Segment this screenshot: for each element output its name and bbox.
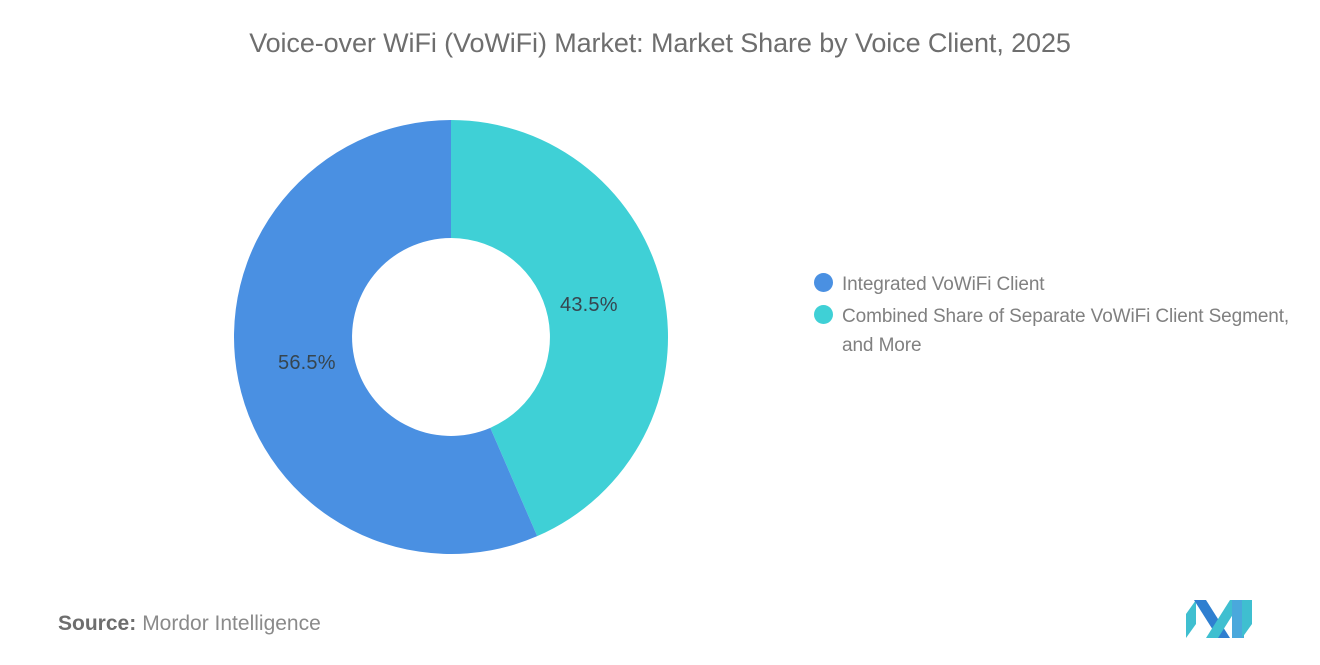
chart-title: Voice-over WiFi (VoWiFi) Market: Market …: [0, 28, 1320, 59]
donut-slice-group: [234, 120, 668, 554]
legend-label-combined-share: Combined Share of Separate VoWiFi Client…: [842, 302, 1294, 360]
legend-label-integrated-vowifi-client: Integrated VoWiFi Client: [842, 270, 1044, 299]
slice-data-label-combined-share: 43.5%: [560, 294, 618, 317]
legend-swatch-icon-combined-share: [814, 305, 833, 324]
chart-figure: Voice-over WiFi (VoWiFi) Market: Market …: [0, 0, 1320, 665]
chart-legend: Integrated VoWiFi Client Combined Share …: [814, 270, 1294, 363]
legend-swatch-icon-integrated-vowifi-client: [814, 273, 833, 292]
legend-item-combined-share[interactable]: Combined Share of Separate VoWiFi Client…: [814, 302, 1294, 360]
slice-data-label-integrated-vowifi-client: 56.5%: [278, 352, 336, 375]
donut-chart: 56.5% 43.5%: [234, 120, 668, 554]
mordor-intelligence-logo-icon: [1186, 598, 1252, 638]
source-label: Source:: [58, 612, 136, 635]
legend-item-integrated-vowifi-client[interactable]: Integrated VoWiFi Client: [814, 270, 1294, 299]
source-line: Source:Mordor Intelligence: [58, 612, 321, 636]
source-value: Mordor Intelligence: [142, 612, 321, 635]
donut-svg: [234, 120, 668, 554]
